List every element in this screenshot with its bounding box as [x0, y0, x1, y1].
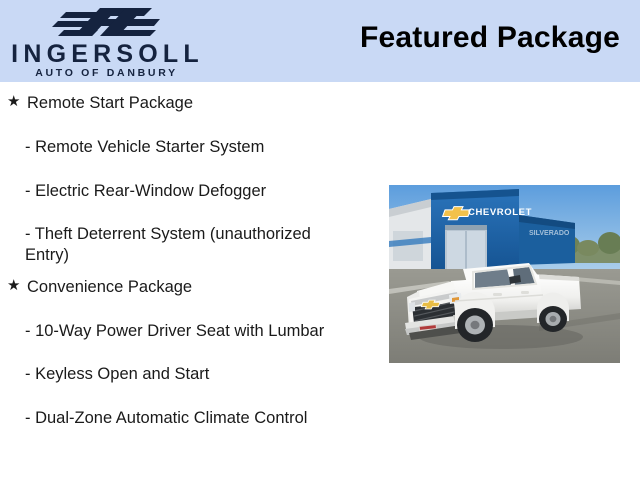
list-item-label: - Dual-Zone Automatic Climate Control — [25, 409, 307, 427]
list-item-sub: - Dual-Zone Automatic Climate Control — [0, 408, 378, 429]
list-item-label: - Remote Vehicle Starter System — [25, 138, 264, 156]
list-item-sub: - Remote Vehicle Starter System — [0, 137, 378, 158]
feature-package-list: ★ Remote Start Package - Remote Vehicle … — [0, 82, 378, 429]
ingersoll-wing-emblem-icon — [48, 4, 162, 40]
list-item-sub: - Keyless Open and Start — [0, 364, 378, 385]
list-item-sub: - 10-Way Power Driver Seat with Lumbar — [0, 321, 378, 342]
list-item-label: - 10-Way Power Driver Seat with Lumbar — [25, 322, 324, 340]
ingersoll-tagline: AUTO OF DANBURY — [0, 68, 210, 79]
slide-header-band: INGERSOLL AUTO OF DANBURY Featured Packa… — [0, 0, 640, 82]
list-item-label: - Electric Rear-Window Defogger — [25, 182, 266, 200]
star-bullet-icon: ★ — [7, 93, 20, 112]
list-item-group: ★ Convenience Package — [0, 277, 378, 298]
vehicle-photo: CHEVROLET SILVERADO — [389, 185, 620, 363]
ingersoll-brand-logo: INGERSOLL AUTO OF DANBURY — [0, 0, 210, 82]
svg-text:SILVERADO: SILVERADO — [529, 230, 570, 237]
list-item-label: - Theft Deterrent System (unauthorized E… — [25, 225, 311, 264]
page-title: Featured Package — [360, 21, 620, 55]
star-bullet-icon: ★ — [7, 277, 20, 296]
list-item-sub: - Electric Rear-Window Defogger — [0, 181, 378, 202]
list-item-group: ★ Remote Start Package — [0, 93, 378, 114]
list-item-label: Remote Start Package — [27, 94, 193, 112]
list-item-label: Convenience Package — [27, 278, 192, 296]
list-item-label: - Keyless Open and Start — [25, 365, 209, 383]
list-item-sub: - Theft Deterrent System (unauthorized E… — [0, 224, 378, 266]
ingersoll-wordmark: INGERSOLL — [0, 42, 210, 67]
slide-body: ★ Remote Start Package - Remote Vehicle … — [0, 82, 640, 480]
